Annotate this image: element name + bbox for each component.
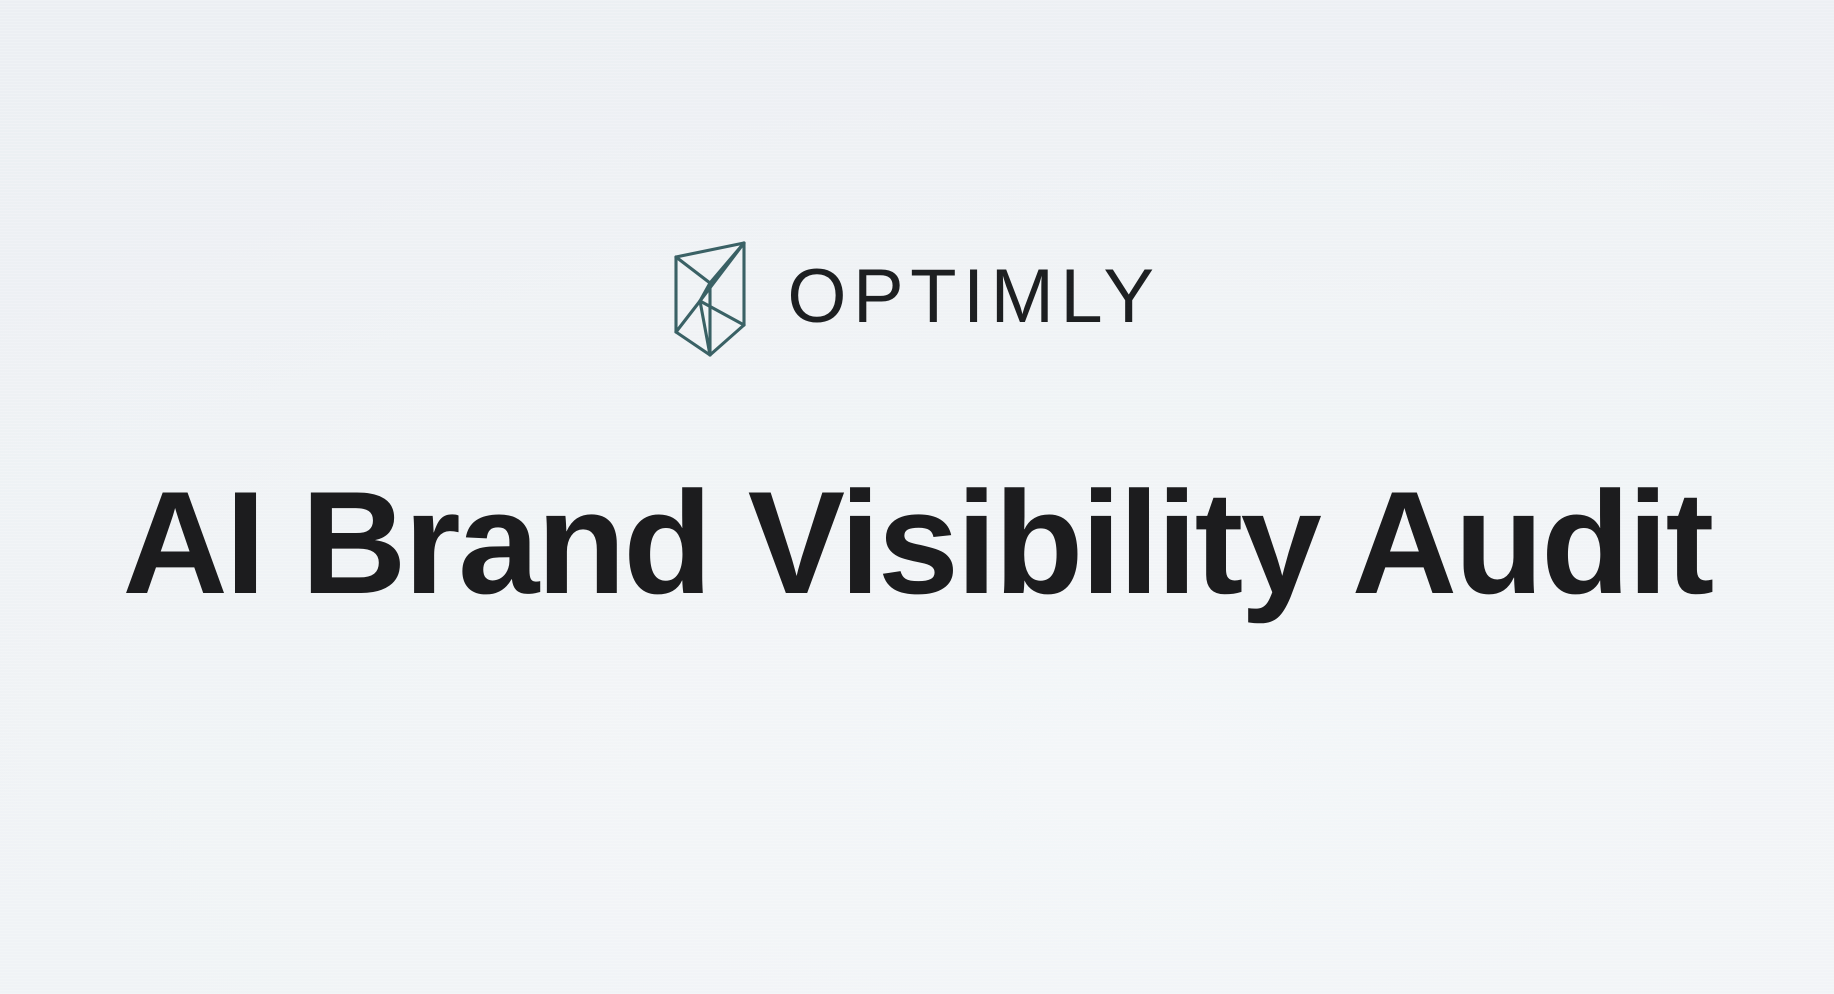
title-slide: OPTIMLY AI Brand Visibility Audit: [0, 0, 1834, 994]
brand-wordmark: OPTIMLY: [787, 259, 1160, 339]
page-title: AI Brand Visibility Audit: [0, 470, 1834, 616]
triangular-prism-logo-icon: [673, 240, 747, 358]
brand-lockup: OPTIMLY: [0, 240, 1834, 358]
